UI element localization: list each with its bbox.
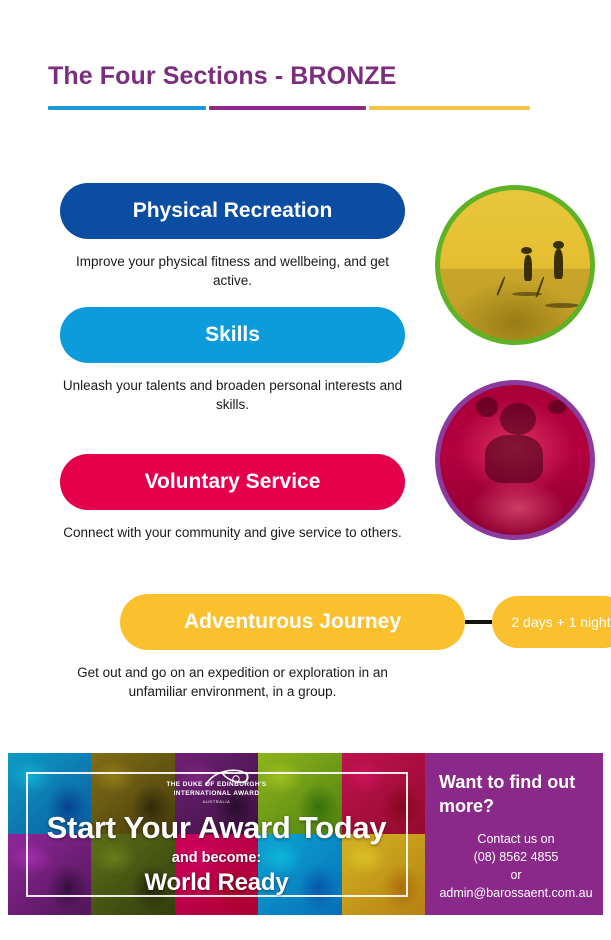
banner-subtitle-1: and become: — [172, 850, 261, 866]
title-underline — [48, 106, 530, 111]
section-label: Physical Recreation — [133, 199, 333, 223]
foliage-blob — [548, 400, 566, 414]
section-label: Adventurous Journey — [184, 610, 401, 634]
contact-line-intro: Contact us on — [439, 830, 593, 848]
paddler-head — [553, 241, 564, 249]
badge-connector-line — [465, 620, 492, 624]
paddler-hat — [521, 247, 532, 254]
page-title: The Four Sections - BRONZE — [48, 62, 396, 91]
section-physical-recreation: Physical Recreation Improve your physica… — [60, 183, 405, 290]
girl-jacket — [485, 435, 543, 483]
section-adventurous-journey: Adventurous Journey 2 days + 1 night Get… — [60, 594, 405, 701]
contact-panel: Want to find out more? Contact us on (08… — [425, 753, 603, 915]
section-description: Improve your physical fitness and wellbe… — [60, 252, 405, 290]
section-skills: Skills Unleash your talents and broaden … — [60, 307, 405, 414]
paddler-figure — [554, 249, 563, 279]
section-description: Get out and go on an expedition or explo… — [60, 663, 405, 701]
section-label: Skills — [205, 323, 260, 347]
contact-email[interactable]: admin@barossaent.com.au — [439, 884, 593, 902]
foliage-blob — [476, 397, 498, 417]
paddleboarding-photo-inner — [440, 190, 590, 340]
banner-headline: Start Your Award Today — [47, 810, 387, 846]
section-pill-physical-recreation[interactable]: Physical Recreation — [60, 183, 405, 239]
banner-content: THE DUKE OF EDINBURGH'S INTERNATIONAL AW… — [8, 753, 425, 915]
footer-banner: THE DUKE OF EDINBURGH'S INTERNATIONAL AW… — [8, 753, 603, 915]
underline-segment-yellow — [369, 106, 530, 110]
section-description: Unleash your talents and broaden persona… — [60, 376, 405, 414]
paddleboarding-photo — [435, 185, 595, 345]
duke-of-edinburgh-award-logo: THE DUKE OF EDINBURGH'S INTERNATIONAL AW… — [166, 781, 266, 804]
paddle-oar — [496, 276, 505, 295]
section-label: Voluntary Service — [145, 470, 321, 494]
section-voluntary-service: Voluntary Service Connect with your comm… — [60, 454, 405, 542]
award-promo-banner: THE DUKE OF EDINBURGH'S INTERNATIONAL AW… — [8, 753, 425, 915]
volunteer-girl-photo — [435, 380, 595, 540]
paddleboard — [545, 303, 579, 308]
banner-subtitle-2: World Ready — [144, 869, 288, 897]
paddler-figure — [524, 255, 532, 281]
girl-head — [500, 403, 536, 435]
section-description: Connect with your community and give ser… — [60, 523, 405, 542]
section-pill-adventurous-journey[interactable]: Adventurous Journey — [120, 594, 465, 650]
logo-line-3: AUSTRALIA — [166, 799, 266, 804]
contact-or: or — [439, 866, 593, 884]
underline-segment-purple — [209, 106, 366, 110]
contact-title: Want to find out more? — [439, 770, 593, 818]
section-pill-skills[interactable]: Skills — [60, 307, 405, 363]
adventurous-journey-row: Adventurous Journey 2 days + 1 night — [120, 594, 611, 650]
contact-phone[interactable]: (08) 8562 4855 — [439, 848, 593, 866]
section-pill-voluntary-service[interactable]: Voluntary Service — [60, 454, 405, 510]
underline-segment-blue — [48, 106, 206, 110]
award-swoosh-icon — [205, 767, 251, 798]
volunteer-girl-photo-inner — [440, 385, 590, 535]
contact-details: Contact us on (08) 8562 4855 or admin@ba… — [439, 830, 593, 902]
duration-badge: 2 days + 1 night — [492, 596, 611, 648]
